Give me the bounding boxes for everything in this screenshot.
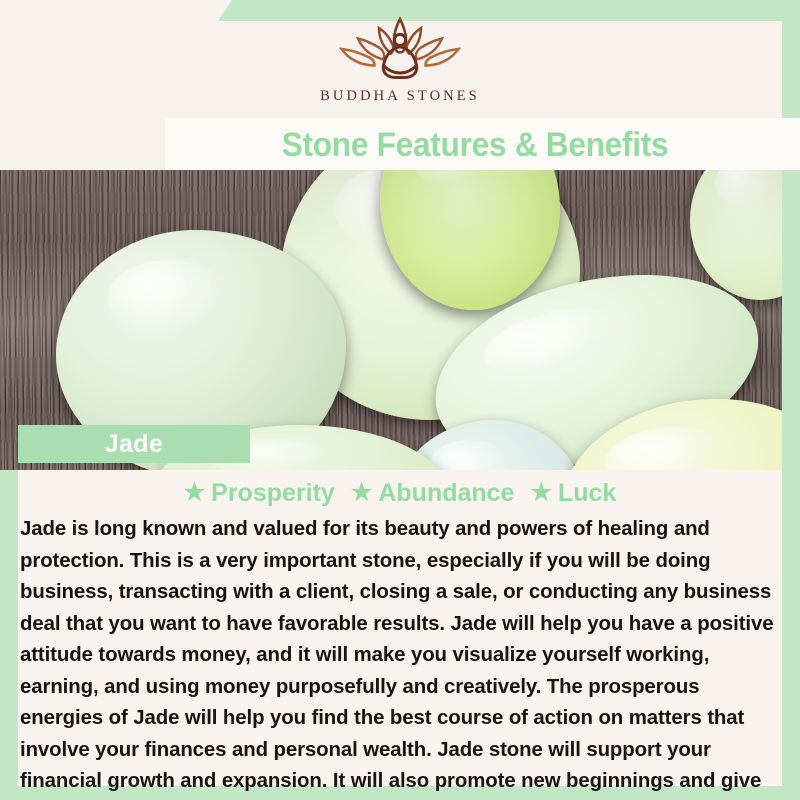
description-text: Jade is long known and valued for its be…: [18, 514, 782, 800]
page-title: Stone Features & Benefits: [187, 122, 764, 168]
star-icon: ★: [530, 481, 552, 505]
stone-name-badge: Jade: [18, 425, 250, 463]
stone-name-label: Jade: [105, 430, 164, 459]
benefit-label: Abundance: [378, 479, 514, 508]
star-icon: ★: [184, 481, 206, 505]
lotus-meditating-figure-icon: [325, 13, 475, 85]
brand-wordmark: BUDDHA STONES: [320, 88, 480, 105]
benefit-label: Luck: [558, 479, 616, 508]
star-icon: ★: [351, 481, 373, 505]
benefit-item-abundance: ★ Abundance: [351, 479, 515, 508]
benefit-item-luck: ★ Luck: [530, 479, 616, 508]
benefit-item-prosperity: ★ Prosperity: [184, 479, 335, 508]
infographic-page: BUDDHA STONES Stone Features & Benefits …: [0, 0, 800, 800]
content-panel: ★ Prosperity ★ Abundance ★ Luck Jade is …: [18, 470, 782, 786]
benefits-row: ★ Prosperity ★ Abundance ★ Luck: [18, 474, 782, 512]
brand-header: BUDDHA STONES: [0, 0, 800, 118]
benefit-label: Prosperity: [211, 479, 335, 508]
